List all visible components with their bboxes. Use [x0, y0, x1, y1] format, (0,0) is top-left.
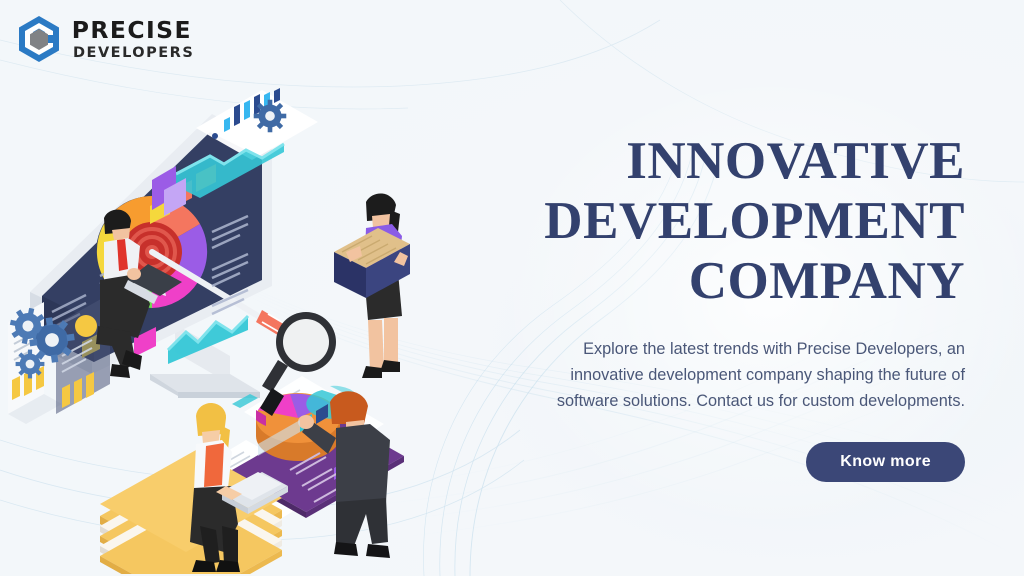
cta-container: Know more	[535, 442, 965, 482]
logo-secondary-text: DEVELOPERS	[73, 46, 194, 61]
gear-icon-top	[254, 100, 287, 133]
know-more-button[interactable]: Know more	[806, 442, 965, 482]
hexagon-c-icon	[14, 14, 64, 64]
isometric-data-analytics-illustration	[0, 74, 500, 574]
hero-copy: Innovative Development Company Explore t…	[535, 132, 965, 482]
logo-primary-text: PRECISE	[72, 20, 196, 43]
logo-wordmark: PRECISE DEVELOPERS	[73, 18, 194, 61]
hero-description: Explore the latest trends with Precise D…	[535, 336, 965, 415]
brand-logo[interactable]: PRECISE DEVELOPERS	[14, 14, 194, 64]
page-title: Innovative Development Company	[535, 132, 965, 312]
woman-with-box	[334, 193, 410, 378]
hero-banner: PRECISE DEVELOPERS	[0, 0, 1024, 576]
